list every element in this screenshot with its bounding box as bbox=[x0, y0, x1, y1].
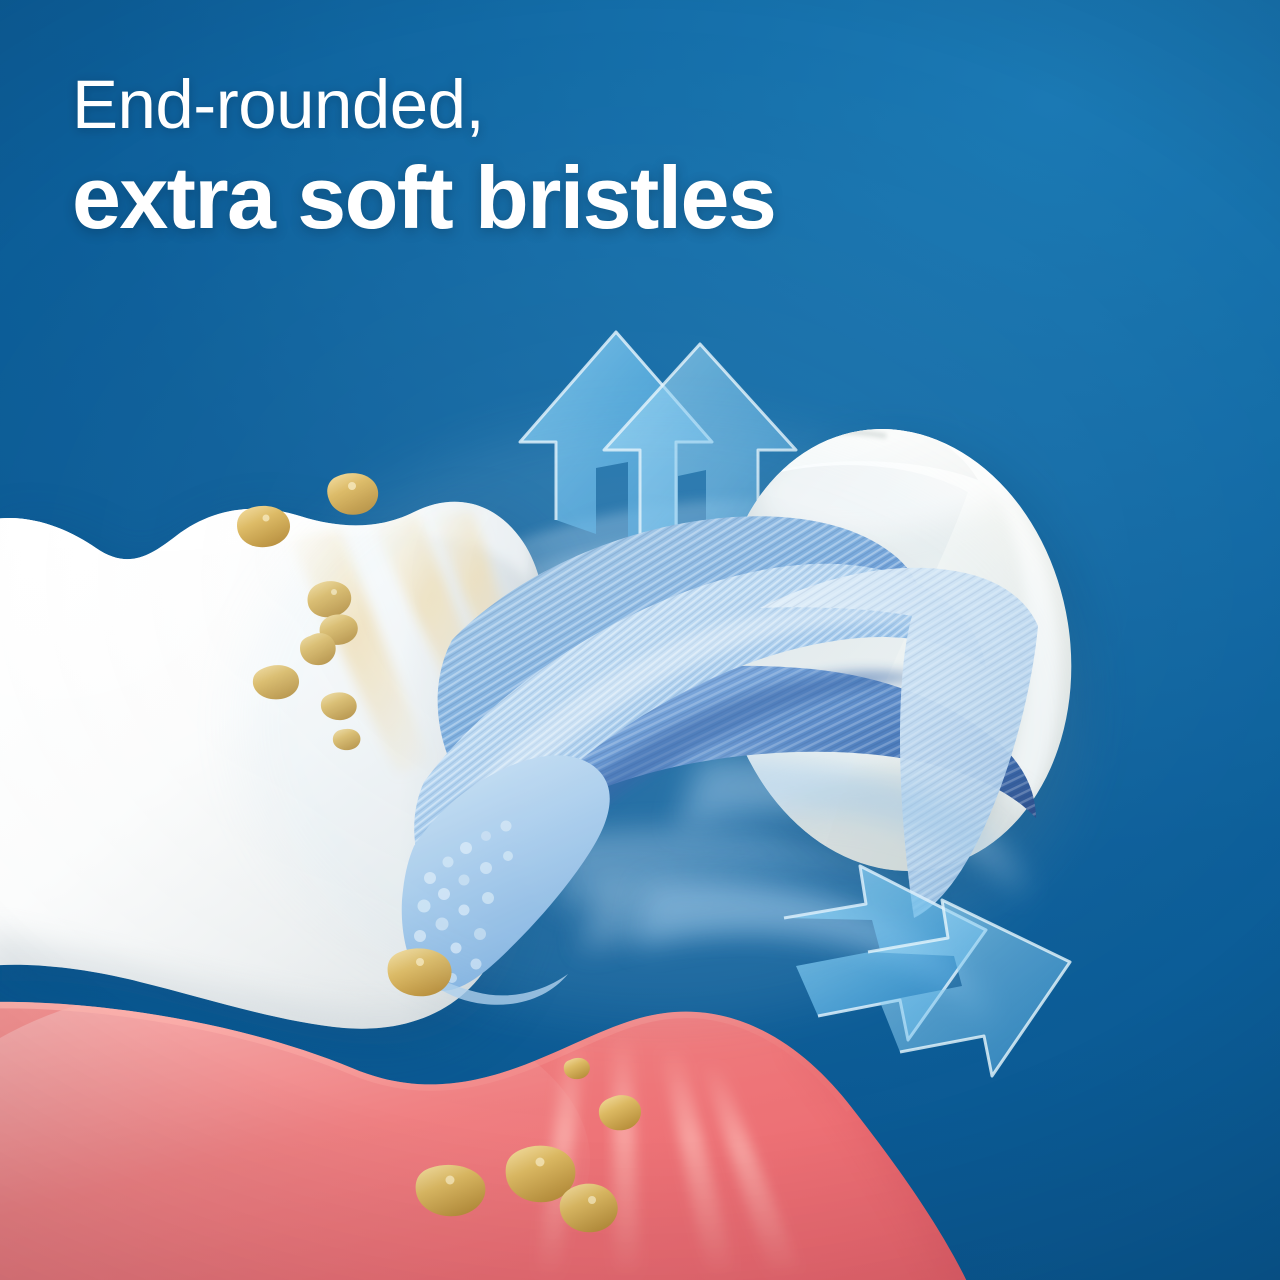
promo-banner: End-rounded, extra soft bristles bbox=[0, 0, 1280, 1280]
gum-tissue bbox=[0, 980, 1000, 1280]
atmosphere-haze bbox=[240, 420, 1080, 1020]
headline-line-2: extra soft bristles bbox=[72, 153, 1232, 243]
headline-block: End-rounded, extra soft bristles bbox=[72, 72, 1232, 243]
headline-line-1: End-rounded, bbox=[72, 72, 1232, 139]
